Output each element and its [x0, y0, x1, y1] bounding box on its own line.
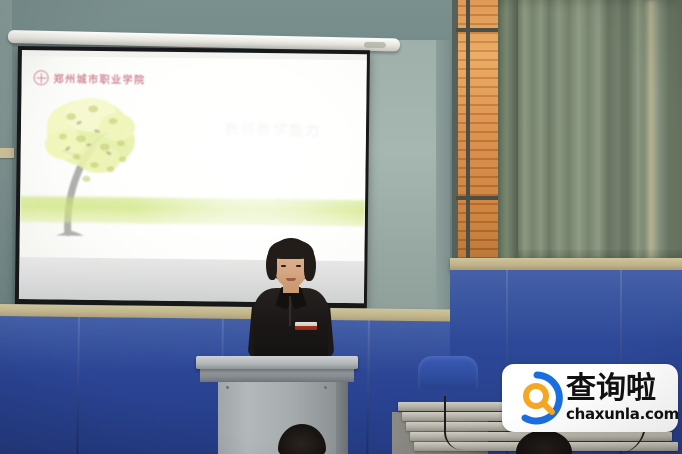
- podium-screw: [324, 386, 327, 389]
- window-glass: [458, 0, 502, 268]
- curtain-fold-shadow: [598, 0, 638, 268]
- podium: [196, 356, 358, 454]
- shirt-placket: [289, 296, 291, 326]
- slide-title: 教师教学能力: [203, 120, 343, 142]
- slide-content: 郑州城市职业学院: [19, 56, 366, 266]
- roller-knob: [364, 42, 386, 48]
- podium-body-edge: [336, 381, 348, 454]
- slide-grass-band: [20, 196, 365, 226]
- magnifier-logo-icon: [510, 371, 564, 425]
- panel-seam: [76, 317, 80, 454]
- window-mullion-top: [456, 28, 504, 32]
- watermark-badge: 查询啦 chaxunla.com: [502, 364, 678, 432]
- chair[interactable]: [418, 356, 478, 390]
- curtain-light-gap: [644, 0, 658, 268]
- window-mullion-bottom: [456, 196, 504, 200]
- name-badge: [295, 322, 317, 330]
- watermark-text: 查询啦 chaxunla.com: [566, 373, 679, 423]
- podium-screw: [226, 386, 229, 389]
- mouth: [286, 278, 296, 281]
- window-curtain-area: [448, 0, 682, 268]
- hair-side-left: [266, 250, 277, 280]
- photo-scene: 郑州城市职业学院: [0, 0, 682, 454]
- panel-seam: [366, 320, 370, 454]
- window-frame: [452, 0, 458, 268]
- panel-sheen: [450, 270, 682, 344]
- cross-emblem-icon: [34, 70, 49, 85]
- watermark-url: chaxunla.com: [566, 406, 679, 423]
- power-cable: [444, 396, 474, 450]
- slide-institution-logo: 郑州城市职业学院: [34, 70, 146, 86]
- curtain-left: [498, 0, 520, 268]
- slide-institution-name: 郑州城市职业学院: [54, 70, 146, 86]
- podium-top: [196, 356, 358, 369]
- window-mullion-vertical: [466, 0, 470, 268]
- hair-side-right: [304, 250, 316, 281]
- watermark-brand: 查询啦: [566, 373, 679, 405]
- podium-lip: [200, 368, 354, 382]
- left-wall-trim: [0, 148, 14, 158]
- presenter: [238, 238, 342, 364]
